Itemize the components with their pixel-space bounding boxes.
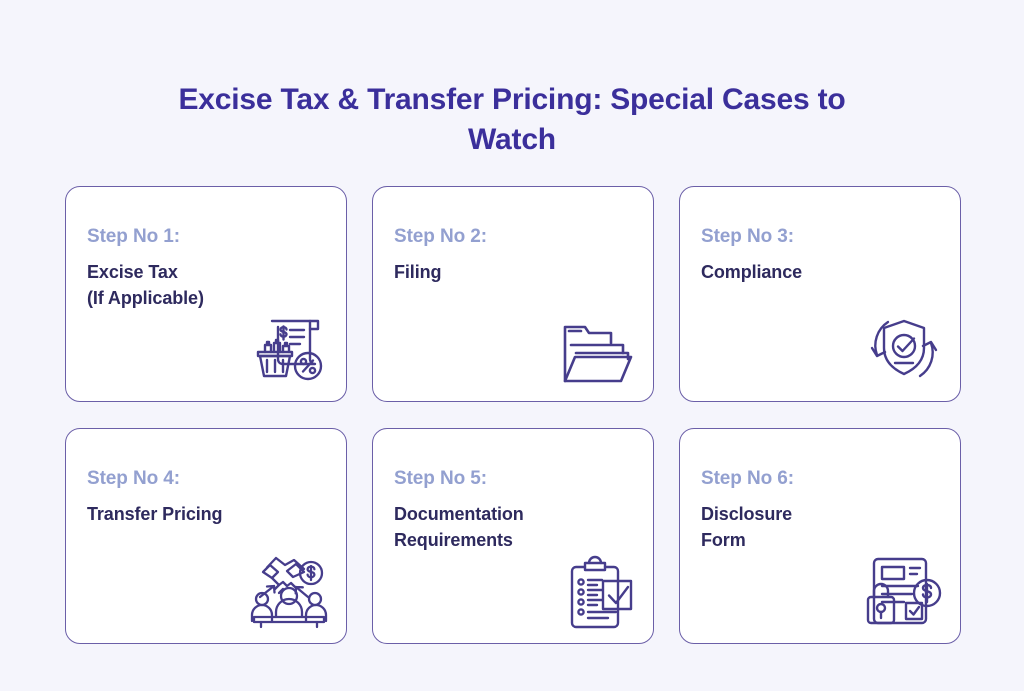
- file-folder-icon: [551, 303, 637, 389]
- step-card-2[interactable]: Step No 2: Filing: [372, 186, 654, 402]
- receipt-basket-percent-icon: [244, 303, 330, 389]
- handshake-people-dollar-icon: [244, 545, 330, 631]
- step-label: Step No 3:: [701, 226, 794, 248]
- step-label: Step No 4:: [87, 468, 180, 490]
- step-card-1[interactable]: Step No 1: Excise Tax (If Applicable): [65, 186, 347, 402]
- step-card-3[interactable]: Step No 3: Compliance: [679, 186, 961, 402]
- step-label: Step No 1:: [87, 226, 180, 248]
- step-card-4[interactable]: Step No 4: Transfer Pricing: [65, 428, 347, 644]
- step-label: Step No 5:: [394, 468, 487, 490]
- step-label: Step No 6:: [701, 468, 794, 490]
- steps-grid: Step No 1: Excise Tax (If Applicable): [65, 186, 961, 644]
- page-title: Excise Tax & Transfer Pricing: Special C…: [162, 80, 862, 160]
- clipboard-checklist-icon: [551, 545, 637, 631]
- step-title: Compliance: [701, 259, 946, 285]
- infographic-page: Excise Tax & Transfer Pricing: Special C…: [0, 0, 1024, 691]
- step-title: Filing: [394, 259, 639, 285]
- step-card-6[interactable]: Step No 6: Disclosure Form: [679, 428, 961, 644]
- step-label: Step No 2:: [394, 226, 487, 248]
- shield-check-refresh-icon: [858, 303, 944, 389]
- document-lock-dollar-icon: [858, 545, 944, 631]
- step-card-5[interactable]: Step No 5: Documentation Requirements: [372, 428, 654, 644]
- step-title: Transfer Pricing: [87, 501, 332, 527]
